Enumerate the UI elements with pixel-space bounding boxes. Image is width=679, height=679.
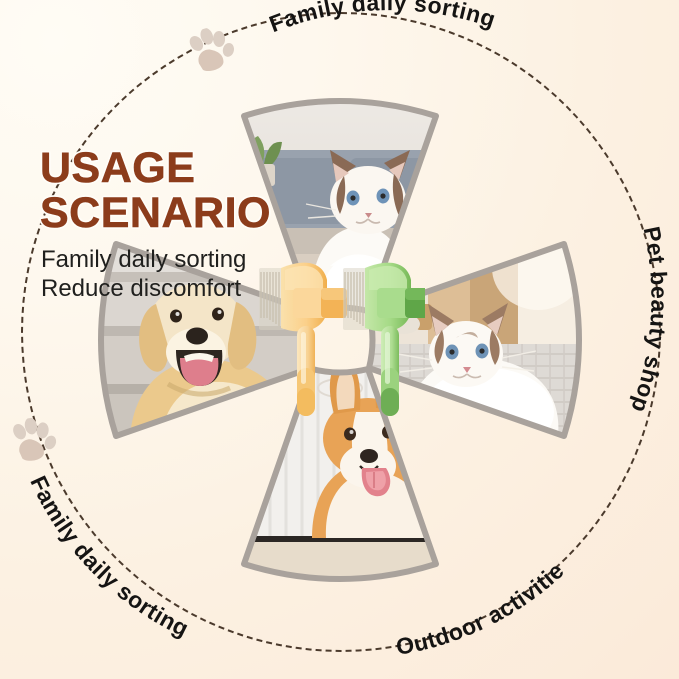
page-subtitle-line-2: Reduce discomfort — [41, 274, 331, 303]
page-title-line-2: SCENARIO — [40, 191, 310, 236]
page-subtitle: Family daily sorting Reduce discomfort — [41, 245, 331, 303]
paw-print-icon — [5, 415, 59, 467]
segment-label-right: Pet beauty shop — [626, 224, 672, 416]
page-subtitle-line-1: Family daily sorting — [41, 245, 331, 274]
segment-label-top: Family daily sorting — [266, 0, 499, 37]
infographic-canvas: pet — [0, 0, 679, 679]
page-title: USAGE SCENARIO — [40, 146, 310, 236]
page-title-line-1: USAGE — [40, 146, 310, 191]
product-brush-green — [343, 263, 425, 416]
